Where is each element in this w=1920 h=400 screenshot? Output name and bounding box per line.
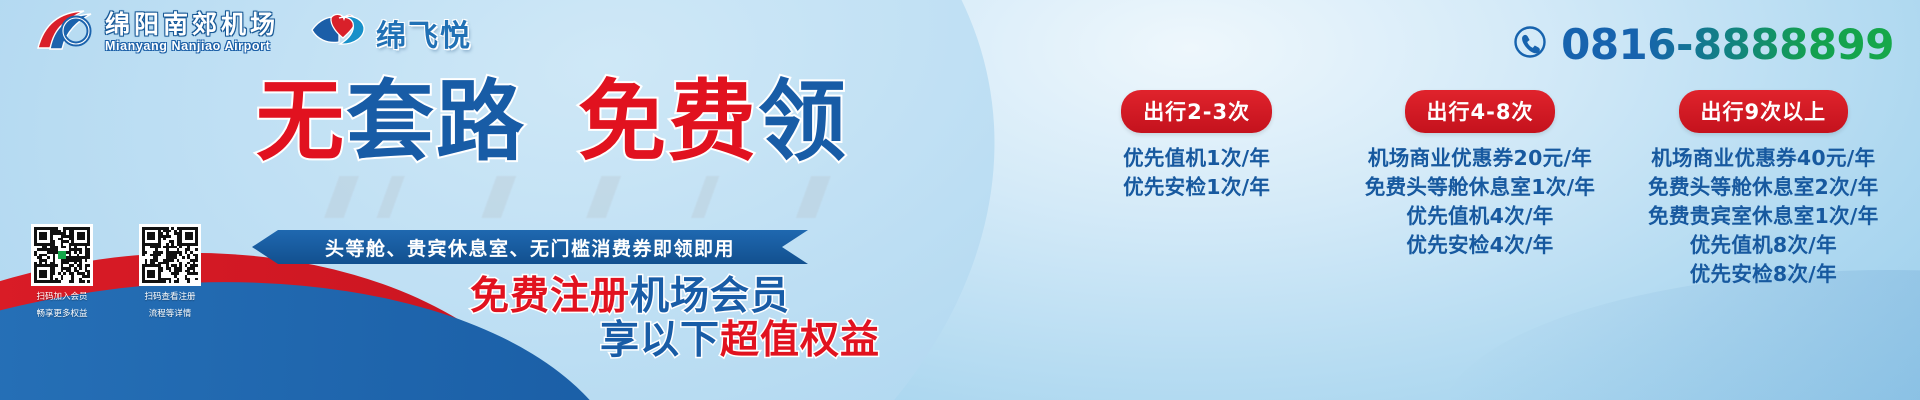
qr-caption-line-1: 扫码加入会员 bbox=[36, 292, 87, 303]
mountain-silhouette-decoration bbox=[300, 176, 940, 218]
headline-part-1: 无 bbox=[256, 78, 346, 166]
app-name-cn: 绵飞悦 bbox=[376, 11, 472, 55]
tier-badge-3: 出行9次以上 bbox=[1679, 90, 1849, 133]
qr-code-icon[interactable] bbox=[139, 224, 201, 286]
airport-name-en: Mianyang Nanjiao Airport bbox=[105, 39, 279, 53]
headline-part-3: 免费 bbox=[578, 78, 758, 166]
headline: 无 套路 免费 领 bbox=[256, 78, 848, 166]
airport-logo: 绵阳南郊机场 Mianyang Nanjiao Airport bbox=[34, 8, 279, 57]
subtitle-ribbon: 头等舱、贵宾休息室、无门槛消费券即领即用 bbox=[252, 230, 808, 264]
qr-code-group: 扫码加入会员 畅享更多权益 扫码查看注册 流程等详情 bbox=[24, 224, 208, 321]
benefit-item: 优先值机4次/年 bbox=[1365, 202, 1595, 231]
benefit-item: 免费贵宾室休息室1次/年 bbox=[1648, 202, 1878, 231]
slogan-line1-blue: 机场会员 bbox=[630, 274, 790, 319]
airport-swoosh-logo-icon bbox=[34, 8, 96, 57]
headline-part-4: 领 bbox=[758, 78, 848, 166]
qr-caption-line-1: 扫码查看注册 bbox=[144, 292, 195, 303]
qr-code-registration[interactable]: 扫码查看注册 流程等详情 bbox=[132, 224, 208, 321]
app-logo: 绵飞悦 bbox=[309, 9, 472, 56]
benefit-item: 免费头等舱休息室1次/年 bbox=[1365, 173, 1595, 202]
benefit-columns: 出行2-3次 优先值机1次/年 优先安检1次/年 出行4-8次 机场商业优惠券2… bbox=[1055, 90, 1905, 320]
tier-badge-1: 出行2-3次 bbox=[1121, 90, 1272, 133]
phone-number: 0816-8888899 bbox=[1561, 20, 1894, 69]
qr-caption-line-2: 畅享更多权益 bbox=[36, 309, 87, 320]
slogan-line2-blue: 享以下 bbox=[600, 318, 720, 363]
benefit-list-1: 优先值机1次/年 优先安检1次/年 bbox=[1123, 144, 1270, 202]
benefit-item: 免费头等舱休息室2次/年 bbox=[1648, 173, 1878, 202]
slogan-line2-red: 超值权益 bbox=[720, 318, 880, 363]
tier-badge-2: 出行4-8次 bbox=[1405, 90, 1556, 133]
airport-name-cn: 绵阳南郊机场 bbox=[105, 12, 279, 38]
slogan-line-2: 享以下超值权益 bbox=[420, 321, 880, 361]
headline-part-2: 套路 bbox=[346, 78, 526, 166]
qr-code-membership[interactable]: 扫码加入会员 畅享更多权益 bbox=[24, 224, 100, 321]
promo-banner: 绵阳南郊机场 Mianyang Nanjiao Airport 绵飞悦 0816… bbox=[0, 0, 1920, 400]
benefit-item: 优先安检8次/年 bbox=[1648, 260, 1878, 289]
logo-bar: 绵阳南郊机场 Mianyang Nanjiao Airport 绵飞悦 bbox=[34, 8, 472, 57]
qr-code-icon[interactable] bbox=[31, 224, 93, 286]
benefit-item: 机场商业优惠券20元/年 bbox=[1365, 144, 1595, 173]
benefit-list-3: 机场商业优惠券40元/年 免费头等舱休息室2次/年 免费贵宾室休息室1次/年 优… bbox=[1648, 144, 1878, 290]
contact-phone[interactable]: 0816-8888899 bbox=[1513, 20, 1894, 69]
telephone-icon bbox=[1513, 25, 1547, 64]
subtitle-ribbon-text: 头等舱、贵宾休息室、无门槛消费券即领即用 bbox=[325, 234, 735, 261]
slogan-line1-red: 免费注册 bbox=[470, 274, 630, 319]
slogan-block: 免费注册机场会员 享以下超值权益 bbox=[420, 277, 880, 361]
benefit-item: 优先值机8次/年 bbox=[1648, 231, 1878, 260]
benefit-list-2: 机场商业优惠券20元/年 免费头等舱休息室1次/年 优先值机4次/年 优先安检4… bbox=[1365, 144, 1595, 260]
benefit-column-1: 出行2-3次 优先值机1次/年 优先安检1次/年 bbox=[1055, 90, 1338, 320]
benefit-item: 优先安检1次/年 bbox=[1123, 173, 1270, 202]
slogan-line-1: 免费注册机场会员 bbox=[420, 277, 880, 317]
benefit-item: 机场商业优惠券40元/年 bbox=[1648, 144, 1878, 173]
benefit-item: 优先值机1次/年 bbox=[1123, 144, 1270, 173]
benefit-column-2: 出行4-8次 机场商业优惠券20元/年 免费头等舱休息室1次/年 优先值机4次/… bbox=[1338, 90, 1621, 320]
qr-caption-line-2: 流程等详情 bbox=[149, 309, 192, 320]
heart-wing-logo-icon bbox=[309, 9, 367, 56]
benefit-column-3: 出行9次以上 机场商业优惠券40元/年 免费头等舱休息室2次/年 免费贵宾室休息… bbox=[1622, 90, 1905, 320]
benefit-item: 优先安检4次/年 bbox=[1365, 231, 1595, 260]
